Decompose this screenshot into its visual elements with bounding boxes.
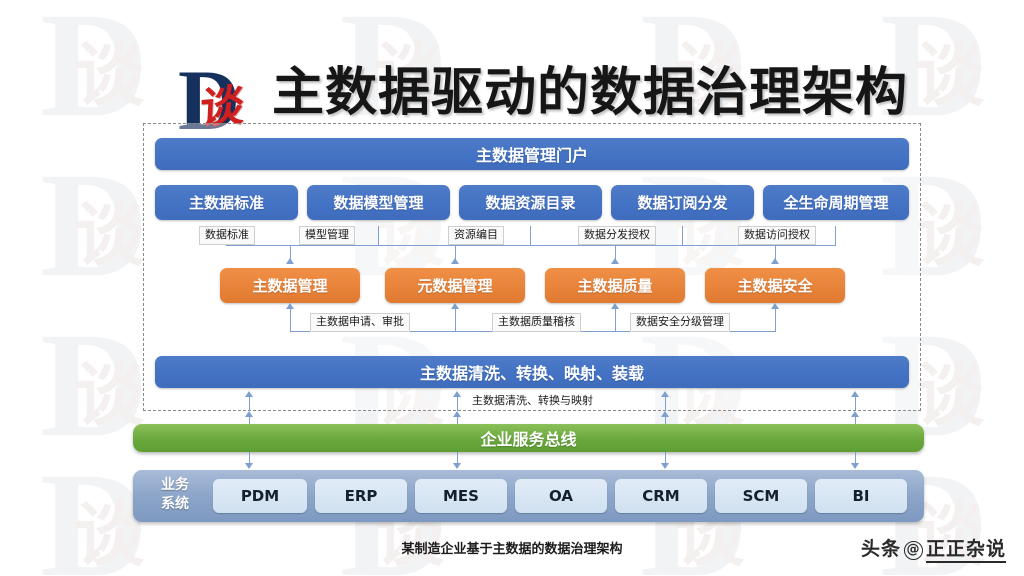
capability-box-subscribe-distribute[interactable]: 数据订阅分发 (611, 185, 754, 220)
connector-line (455, 245, 456, 261)
connector-line (457, 417, 458, 424)
connector-line (249, 417, 250, 424)
enterprise-service-bus-bar[interactable]: 企业服务总线 (133, 424, 924, 452)
core-box-master-data-security[interactable]: 主数据安全 (705, 268, 845, 303)
author-byline: 头条@正正杂说 (861, 534, 1006, 561)
slide-canvas: D谈 D谈 D谈 D谈 D谈 D谈 D谈 D谈 D谈 D谈 D谈 D谈 D谈 D… (0, 0, 1024, 576)
capability-box-model-management[interactable]: 数据模型管理 (307, 185, 450, 220)
system-box-mes[interactable]: MES (415, 479, 507, 513)
at-icon: @ (904, 541, 923, 560)
connector-line (455, 309, 456, 331)
connector-line (775, 245, 776, 261)
connector-bus-line (226, 245, 835, 246)
watermark-tile: D谈 (40, 150, 142, 300)
connector-label-data-standard: 数据标准 (199, 226, 255, 245)
connector-arrow-down (661, 463, 669, 469)
watermark-tile: D谈 (40, 310, 142, 460)
connector-line (615, 309, 616, 331)
capability-box-resource-catalog[interactable]: 数据资源目录 (459, 185, 602, 220)
connector-arrow-down (851, 463, 859, 469)
system-box-oa[interactable]: OA (515, 479, 607, 513)
connector-line (665, 417, 666, 424)
connector-line (457, 397, 458, 411)
core-box-metadata-management[interactable]: 元数据管理 (385, 268, 525, 303)
capability-box-lifecycle-management[interactable]: 全生命周期管理 (763, 185, 909, 220)
connector-label-access-auth: 数据访问授权 (738, 226, 816, 245)
connector-line (290, 309, 291, 331)
business-label-line2: 系统 (149, 495, 201, 514)
byline-platform: 头条 (861, 538, 901, 560)
page-title: 主数据驱动的数据治理架构 (272, 62, 908, 124)
connector-arrow-down (245, 463, 253, 469)
connector-line (249, 397, 250, 411)
system-box-crm[interactable]: CRM (615, 479, 707, 513)
etl-connector-label: 主数据清洗、转换与映射 (472, 392, 593, 408)
slide-header: D 谈 主数据驱动的数据治理架构 (0, 26, 1024, 106)
master-data-portal-bar[interactable]: 主数据管理门户 (155, 138, 909, 170)
connector-arrow-down (453, 463, 461, 469)
connector-label-security-grading: 数据安全分级管理 (630, 313, 730, 332)
system-box-bi[interactable]: BI (815, 479, 907, 513)
etl-bar[interactable]: 主数据清洗、转换、映射、装载 (155, 356, 909, 388)
connector-label-apply-approve: 主数据申请、审批 (310, 313, 410, 332)
connector-label-quality-audit: 主数据质量稽核 (492, 313, 581, 332)
system-box-erp[interactable]: ERP (315, 479, 407, 513)
connector-line (378, 226, 379, 246)
connector-label-resource-catalog: 资源编目 (448, 226, 504, 245)
byline-handle: 正正杂说 (926, 538, 1006, 563)
watermark-tile: D谈 (40, 450, 142, 576)
connector-line (775, 309, 776, 331)
connector-label-model-management: 模型管理 (299, 226, 355, 245)
core-box-master-data-quality[interactable]: 主数据质量 (545, 268, 685, 303)
connector-line (855, 417, 856, 424)
connector-line (682, 226, 683, 246)
connector-line (615, 245, 616, 261)
connector-line (290, 245, 291, 261)
core-box-master-data-management[interactable]: 主数据管理 (220, 268, 360, 303)
business-systems-band: 业务 系统 PDM ERP MES OA CRM SCM BI (133, 470, 924, 522)
connector-line (665, 397, 666, 411)
business-label-line1: 业务 (149, 476, 201, 495)
connector-line (530, 226, 531, 246)
system-box-scm[interactable]: SCM (715, 479, 807, 513)
system-box-pdm[interactable]: PDM (213, 479, 307, 513)
connector-label-distribution-auth: 数据分发授权 (578, 226, 656, 245)
business-systems-label: 业务 系统 (149, 476, 201, 516)
connector-line (835, 226, 836, 246)
capability-box-data-standard[interactable]: 主数据标准 (155, 185, 298, 220)
connector-line (855, 397, 856, 411)
